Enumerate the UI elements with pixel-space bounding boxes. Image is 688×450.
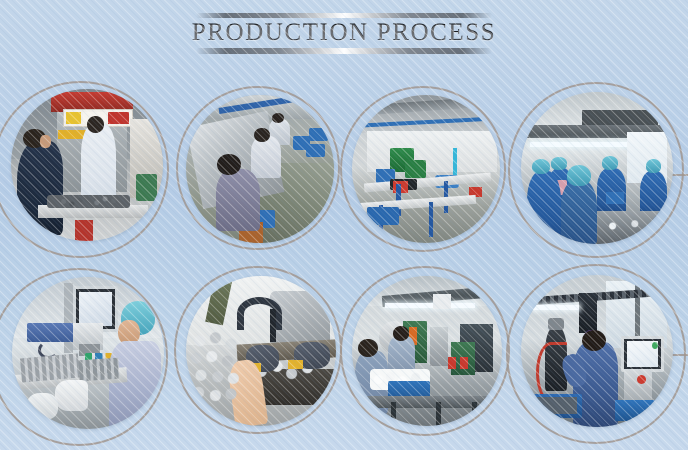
- photo-4[interactable]: [521, 92, 673, 244]
- photo-3[interactable]: [352, 95, 500, 243]
- photo-2-image: [186, 95, 334, 243]
- photo-7[interactable]: [352, 276, 502, 426]
- photo-6[interactable]: [186, 276, 336, 426]
- photo-2[interactable]: [186, 95, 334, 243]
- photo-6-image: [186, 276, 336, 426]
- photo-4-image: [521, 92, 673, 244]
- title-rule-bottom: [196, 48, 492, 54]
- photo-8-image: [521, 275, 673, 427]
- photo-8[interactable]: [521, 275, 673, 427]
- photo-5-image: [12, 277, 164, 429]
- photo-7-image: [352, 276, 502, 426]
- photo-5[interactable]: [12, 277, 164, 429]
- page-title: PRODUCTION PROCESS: [0, 18, 688, 48]
- photo-3-image: [352, 95, 500, 243]
- photo-1-image: [11, 89, 163, 241]
- photo-ring-8-stub: [672, 354, 688, 356]
- photo-gallery: [0, 0, 688, 450]
- banner-header: PRODUCTION PROCESS: [0, 4, 688, 62]
- photo-ring-4-stub: [672, 174, 688, 176]
- photo-1[interactable]: [11, 89, 163, 241]
